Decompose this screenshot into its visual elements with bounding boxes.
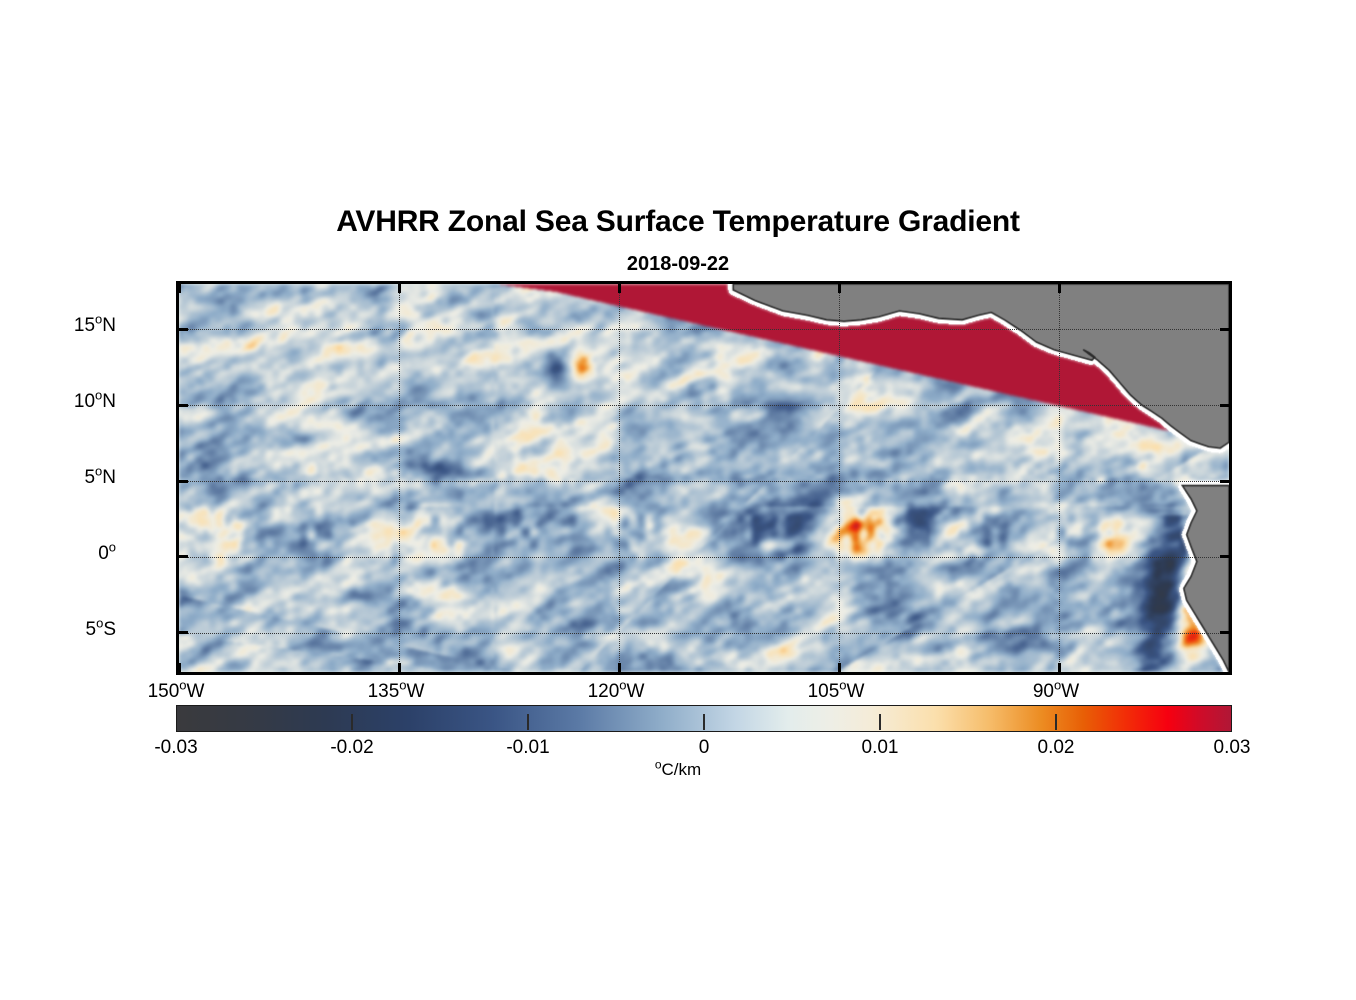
x-axis-tick-label: 120oW — [536, 681, 696, 703]
map-plot-area — [176, 281, 1232, 675]
colorbar-tick — [527, 714, 529, 730]
x-axis-tick — [838, 663, 841, 672]
sst-gradient-heatmap — [179, 284, 1229, 672]
figure-subtitle-date: 2018-09-22 — [0, 253, 1356, 276]
y-axis-tick-label: 0o — [0, 543, 116, 565]
page-title: AVHRR Zonal Sea Surface Temperature Grad… — [0, 205, 1356, 239]
x-axis-tick-label: 135oW — [316, 681, 476, 703]
x-axis-tick-label: 150oW — [96, 681, 256, 703]
x-axis-tick — [1058, 284, 1061, 293]
colorbar — [176, 705, 1232, 732]
y-axis-tick — [1220, 631, 1229, 634]
colorbar-tick — [1055, 714, 1057, 730]
colorbar-tick-label: 0.02 — [986, 737, 1126, 759]
x-axis-tick — [178, 284, 181, 293]
y-axis-tick — [1220, 328, 1229, 331]
x-axis-tick — [398, 284, 401, 293]
colorbar-tick-label: 0 — [634, 737, 774, 759]
y-axis-tick — [179, 555, 188, 558]
x-axis-tick — [178, 663, 181, 672]
x-axis-tick — [1058, 663, 1061, 672]
x-axis-tick — [398, 663, 401, 672]
colorbar-tick-label: -0.03 — [106, 737, 246, 759]
colorbar-tick — [351, 714, 353, 730]
x-axis-tick — [838, 284, 841, 293]
colorbar-tick-label: 0.03 — [1162, 737, 1302, 759]
colorbar-tick-label: 0.01 — [810, 737, 950, 759]
y-axis-tick — [179, 480, 188, 483]
colorbar-tick — [879, 714, 881, 730]
y-axis-tick-label: 5oS — [0, 619, 116, 641]
x-axis-tick-label: 105oW — [756, 681, 916, 703]
y-axis-tick — [179, 328, 188, 331]
y-axis-tick — [179, 631, 188, 634]
colorbar-tick-label: -0.02 — [282, 737, 422, 759]
colorbar-tick — [703, 714, 705, 730]
y-axis-tick — [179, 404, 188, 407]
x-axis-tick-label: 90oW — [976, 681, 1136, 703]
y-axis-tick — [1220, 480, 1229, 483]
y-axis-tick — [1220, 555, 1229, 558]
x-axis-tick — [618, 284, 621, 293]
y-axis-tick-label: 5oN — [0, 467, 116, 489]
y-axis-tick — [1220, 404, 1229, 407]
colorbar-tick-label: -0.01 — [458, 737, 598, 759]
y-axis-tick-label: 15oN — [0, 315, 116, 337]
y-axis-tick-label: 10oN — [0, 391, 116, 413]
colorbar-unit-label: oC/km — [0, 760, 1356, 780]
x-axis-tick — [618, 663, 621, 672]
